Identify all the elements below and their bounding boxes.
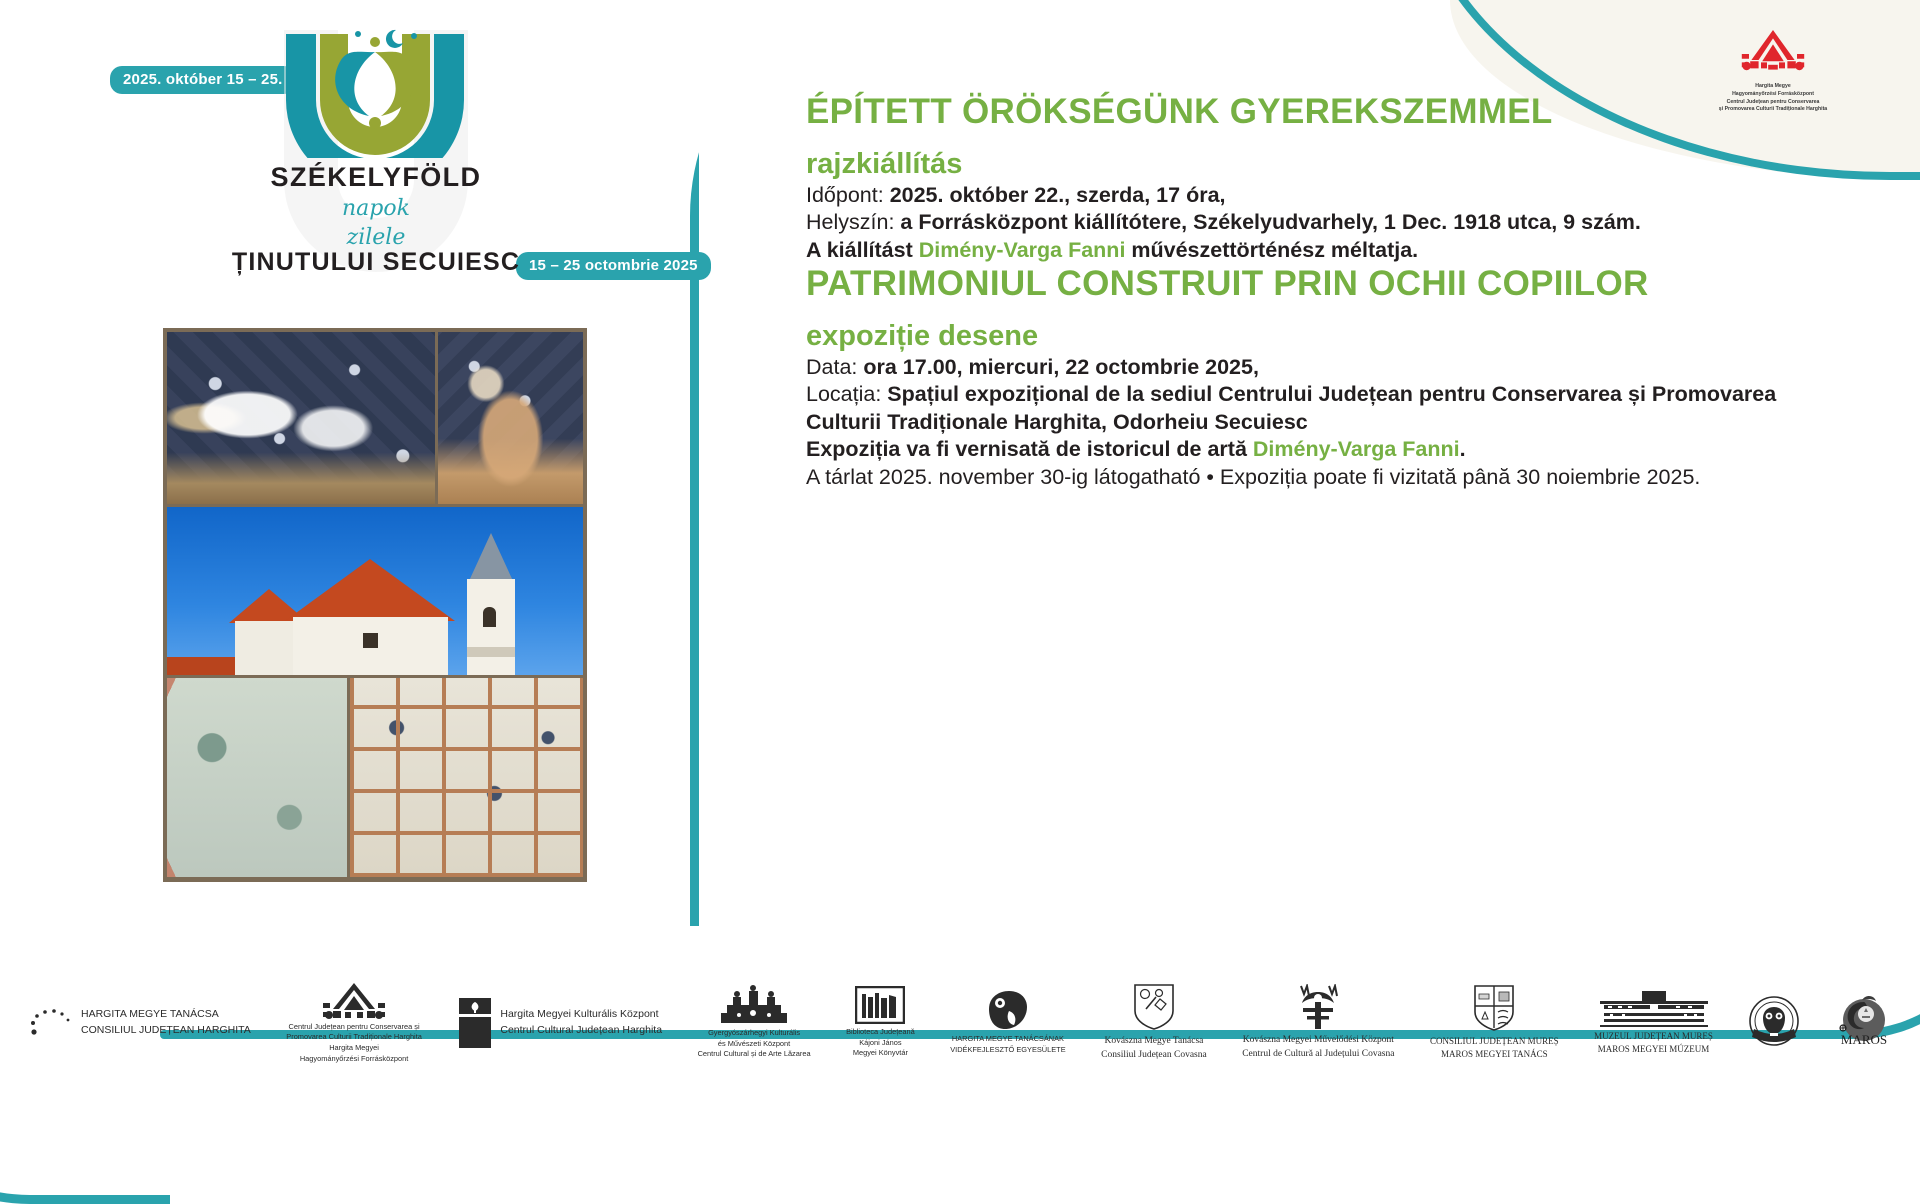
hu-row-time-value: 2025. október 22., szerda, 17 óra, [890,183,1226,207]
ro-credit-name: Dimény-Varga Fanni [1253,437,1460,461]
hargita-cultural-centre-logo: Hargita Megyei Kulturális Központ Centru… [457,997,662,1049]
subtitle-hu: rajzkiállítás [806,148,1866,181]
tulip-leaf-logo-icon [268,28,483,158]
maros-swirl-icon: MAROS [1836,994,1892,1048]
fresco-scene-photo [438,332,583,504]
collage-row-bottom [167,678,583,877]
date-badge-ro: 15 – 25 octombrie 2025 [516,252,711,280]
covasna-county-council-caption: Kovászna Megye Tanácsa Consiliul Județea… [1101,1034,1207,1063]
hargita-cultural-centre-caption: Hargita Megyei Kulturális Központ Centru… [500,1007,662,1037]
ro-credit-pre: Expoziția va fi vernisată de istoricul d… [806,437,1253,461]
palace-building-icon [1598,989,1710,1027]
hargita-traditional-culture-centre-logo: Centrul Județean pentru Conservarea și P… [286,981,422,1065]
hargita-county-heritage-association-caption: HARGITA MEGYE TANÁCSÁNAK VIDÉKFEJLESZTŐ … [950,1034,1065,1055]
teleki-library-logo [1748,995,1800,1050]
shield-crest-icon [1132,983,1176,1031]
partner-logos-footer: HARGITA MEGYE TANÁCSA CONSILIUL JUDEȚEAN… [0,965,1920,1080]
black-square-flower-icon [457,997,493,1049]
ro-row-location: Locația: Spațiul expozițional de la sedi… [806,381,1866,409]
geometric-gate-icon [321,981,387,1019]
festival-script-ro: zilele [226,225,526,250]
ro-row-date-value: ora 17.00, miercuri, 22 octombrie 2025, [863,355,1259,379]
svg-text:MAROS: MAROS [1841,1032,1887,1047]
hu-credit-pre: A kiállítást [806,238,919,262]
covasna-cultural-centre-logo: Kovászna Megyei Művelődési Központ Centr… [1242,984,1394,1062]
quartered-shield-icon [1472,984,1516,1032]
ro-row-date-label: Data: [806,355,863,379]
festival-script-hu: napok [226,196,526,221]
hargita-county-council-logo: HARGITA MEGYE TANÁCSA CONSILIUL JUDEȚEAN… [28,1006,251,1040]
kajoni-janos-county-library-logo: Biblioteca Județeană Kájoni János Megyei… [846,986,915,1059]
photo-collage [163,328,587,882]
poster-root: 2025. október 15 – 25. 15 – 25 octombrie… [0,0,1920,1080]
ro-row-location-label: Locația: [806,382,887,406]
hu-row-venue: Helyszín: a Forrásközpont kiállítótere, … [806,209,1866,237]
painted-vault-photo [167,678,347,877]
festival-logo: SZÉKELYFÖLD napok zilele ȚINUTULUI SECUI… [226,20,526,275]
collage-row-top [167,332,583,504]
hu-credit: A kiállítást Dimény-Varga Fanni művészet… [806,237,1866,265]
subtitle-ro: expoziție desene [806,320,1866,353]
tree-of-life-icon [1293,984,1343,1030]
hu-row-venue-value: a Forrásközpont kiállítótere, Székelyudv… [900,210,1640,234]
hu-credit-post: művészettörténész méltatja. [1125,238,1418,262]
gyergyoszarhegy-cultural-centre-logo: Gyergyószárhegyi Kulturális és Művészeti… [698,985,811,1060]
church-exterior-photo [167,507,583,675]
ro-credit: Expoziția va fi vernisată de istoricul d… [806,436,1866,464]
covasna-county-council-logo: Kovászna Megye Tanácsa Consiliul Județea… [1101,983,1207,1063]
gyergyoszarhegy-cultural-centre-caption: Gyergyószárhegyi Kulturális és Művészeti… [698,1028,811,1060]
title-hu: ÉPÍTETT ÖRÖKSÉGÜNK GYEREKSZEMMEL [806,92,1866,132]
left-column: 2025. október 15 – 25. 15 – 25 octombrie… [0,0,690,1080]
ro-row-location-value: Spațiul expozițional de la sediul Centru… [887,382,1776,406]
coffered-ceiling-photo [350,678,583,877]
hargita-county-council-caption: HARGITA MEGYE TANÁCSA CONSILIUL JUDEȚEAN… [81,1007,251,1037]
owl-seal-icon [1748,995,1800,1047]
stars-circle-icon [28,1006,74,1040]
hu-credit-name: Dimény-Varga Fanni [919,238,1126,262]
maros-folk-ensemble-logo: MAROS [1836,994,1892,1051]
festival-name-hu: SZÉKELYFÖLD [226,162,526,193]
ro-location-continued: Culturii Tradiționale Harghita, Odorheiu… [806,409,1866,437]
hu-row-venue-label: Helyszín: [806,210,900,234]
mures-county-council-logo: CONSILIUL JUDEȚEAN MUREȘ MAROS MEGYEI TA… [1430,984,1559,1062]
festival-name-ro: ȚINUTULUI SECUIESC [226,248,526,277]
covasna-cultural-centre-caption: Kovászna Megyei Művelődési Központ Centr… [1242,1033,1394,1062]
books-icon [855,986,905,1024]
kajoni-janos-county-library-caption: Biblioteca Județeană Kájoni János Megyei… [846,1027,915,1059]
mures-county-council-caption: CONSILIUL JUDEȚEAN MUREȘ MAROS MEGYEI TA… [1430,1035,1559,1062]
castle-icon [717,985,791,1025]
mures-county-museum-logo: MUZEUL JUDEȚEAN MUREȘ MAROS MEGYEI MÚZEU… [1594,989,1713,1057]
text-column: ÉPÍTETT ÖRÖKSÉGÜNK GYEREKSZEMMEL rajzkiá… [806,92,1866,491]
hargita-traditional-culture-mark-icon [1737,28,1809,74]
closing-line: A tárlat 2025. november 30-ig látogathat… [806,464,1866,492]
title-ro: PATRIMONIUL CONSTRUIT PRIN OCHII COPIILO… [806,264,1866,304]
hu-row-time: Időpont: 2025. október 22., szerda, 17 ó… [806,182,1866,210]
ro-row-date: Data: ora 17.00, miercuri, 22 octombrie … [806,354,1866,382]
collage-row-middle [167,507,583,675]
hu-row-time-label: Időpont: [806,183,890,207]
fresco-knights-photo [167,332,435,504]
folk-bird-icon [981,989,1035,1031]
mures-county-museum-caption: MUZEUL JUDEȚEAN MUREȘ MAROS MEGYEI MÚZEU… [1594,1030,1713,1057]
hargita-traditional-culture-centre-caption: Centrul Județean pentru Conservarea și P… [286,1022,422,1065]
ro-credit-post: . [1460,437,1466,461]
hargita-county-heritage-association-logo: HARGITA MEGYE TANÁCSÁNAK VIDÉKFEJLESZTŐ … [950,989,1065,1055]
